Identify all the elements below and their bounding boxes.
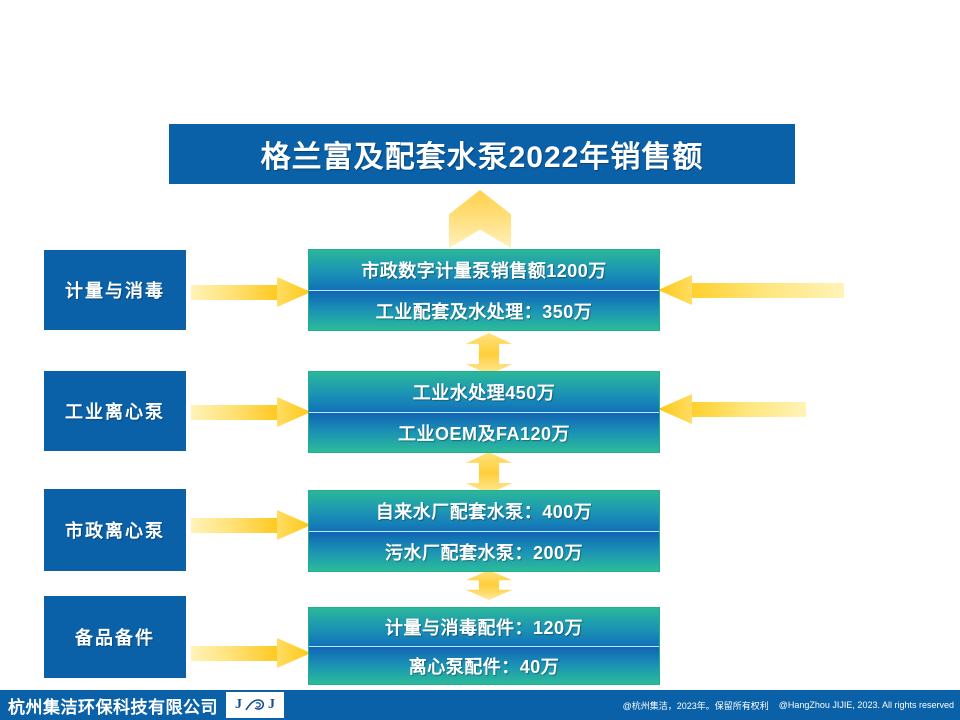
copyright-chinese: @杭州集洁，2023年。保留所有权利 [623, 699, 769, 712]
data-row[interactable]: 市政数字计量泵销售额1200万 工业配套及水处理：350万 [308, 249, 660, 331]
category-box-municipal-centrifugal-pump[interactable]: 市政离心泵 [44, 489, 186, 571]
logo-letter-left: J [235, 697, 242, 713]
data-line-text: 离心泵配件：40万 [409, 653, 560, 679]
category-label: 市政离心泵 [65, 517, 165, 543]
category-box-metering-disinfection[interactable]: 计量与消毒 [44, 250, 186, 330]
data-row[interactable]: 自来水厂配套水泵：400万 污水厂配套水泵：200万 [308, 490, 660, 572]
data-line-text: 市政数字计量泵销售额1200万 [361, 257, 607, 283]
company-logo[interactable]: J J [226, 692, 284, 718]
logo-letter-right: J [268, 697, 275, 713]
arrow-shaft [690, 283, 844, 298]
arrow-head [277, 277, 311, 307]
category-box-industrial-centrifugal-pump[interactable]: 工业离心泵 [44, 371, 186, 451]
arrow-head [658, 275, 692, 305]
data-line-bottom: 离心泵配件：40万 [309, 646, 659, 684]
slide-canvas: 格兰富及配套水泵2022年销售额 计量与消毒 工业离心泵 市政离心泵 备品备件 [0, 0, 960, 720]
data-line-text: 工业水处理450万 [413, 379, 556, 405]
data-line-text: 工业OEM及FA120万 [398, 420, 570, 446]
arrow-shaft [690, 402, 806, 417]
data-line-text: 计量与消毒配件：120万 [385, 614, 583, 640]
chevron-up-icon [449, 190, 511, 248]
arrow-left-icon [658, 275, 844, 305]
data-line-top: 市政数字计量泵销售额1200万 [309, 250, 659, 290]
data-line-text: 污水厂配套水泵：200万 [385, 539, 583, 565]
arrow-left-icon [658, 394, 806, 424]
arrow-head [277, 510, 311, 540]
arrow-head [277, 638, 311, 668]
logo-swirl-icon [244, 697, 266, 713]
data-row[interactable]: 工业水处理450万 工业OEM及FA120万 [308, 371, 660, 453]
category-label: 计量与消毒 [65, 277, 165, 303]
data-line-bottom: 污水厂配套水泵：200万 [309, 531, 659, 571]
arrow-head [277, 397, 311, 427]
data-line-bottom: 工业配套及水处理：350万 [309, 290, 659, 330]
arrow-shaft [191, 646, 279, 661]
arrow-head [658, 394, 692, 424]
arrow-shaft [191, 405, 279, 420]
arrow-up-down-icon [466, 452, 512, 494]
arrow-right-icon [191, 277, 311, 307]
category-label: 备品备件 [75, 624, 155, 650]
footer-left-group: 杭州集洁环保科技有限公司 J J [8, 690, 284, 720]
arrow-up-down-icon [466, 570, 512, 600]
arrow-right-icon [191, 638, 311, 668]
slide-title-banner: 格兰富及配套水泵2022年销售额 [169, 124, 795, 184]
footer-bar: 杭州集洁环保科技有限公司 J J @杭州集洁，2023年。保留所有权利 @Han… [0, 690, 960, 720]
data-line-text: 工业配套及水处理：350万 [376, 298, 593, 324]
category-label: 工业离心泵 [65, 398, 165, 424]
data-line-top: 工业水处理450万 [309, 372, 659, 412]
data-row[interactable]: 计量与消毒配件：120万 离心泵配件：40万 [308, 607, 660, 685]
arrow-shaft [191, 285, 279, 300]
arrow-shaft [191, 518, 279, 533]
data-line-top: 自来水厂配套水泵：400万 [309, 491, 659, 531]
category-box-spare-parts[interactable]: 备品备件 [44, 596, 186, 678]
slide-title-text: 格兰富及配套水泵2022年销售额 [261, 132, 704, 176]
data-line-bottom: 工业OEM及FA120万 [309, 412, 659, 452]
data-line-text: 自来水厂配套水泵：400万 [376, 498, 593, 524]
footer-company-name: 杭州集洁环保科技有限公司 [8, 693, 218, 718]
arrow-up-down-icon [466, 333, 512, 375]
arrow-right-icon [191, 510, 311, 540]
arrow-right-icon [191, 397, 311, 427]
data-line-top: 计量与消毒配件：120万 [309, 608, 659, 646]
footer-right-group: @杭州集洁，2023年。保留所有权利 @HangZhou JIJIE, 2023… [623, 690, 954, 720]
copyright-english: @HangZhou JIJIE, 2023. All rights reserv… [779, 700, 954, 710]
